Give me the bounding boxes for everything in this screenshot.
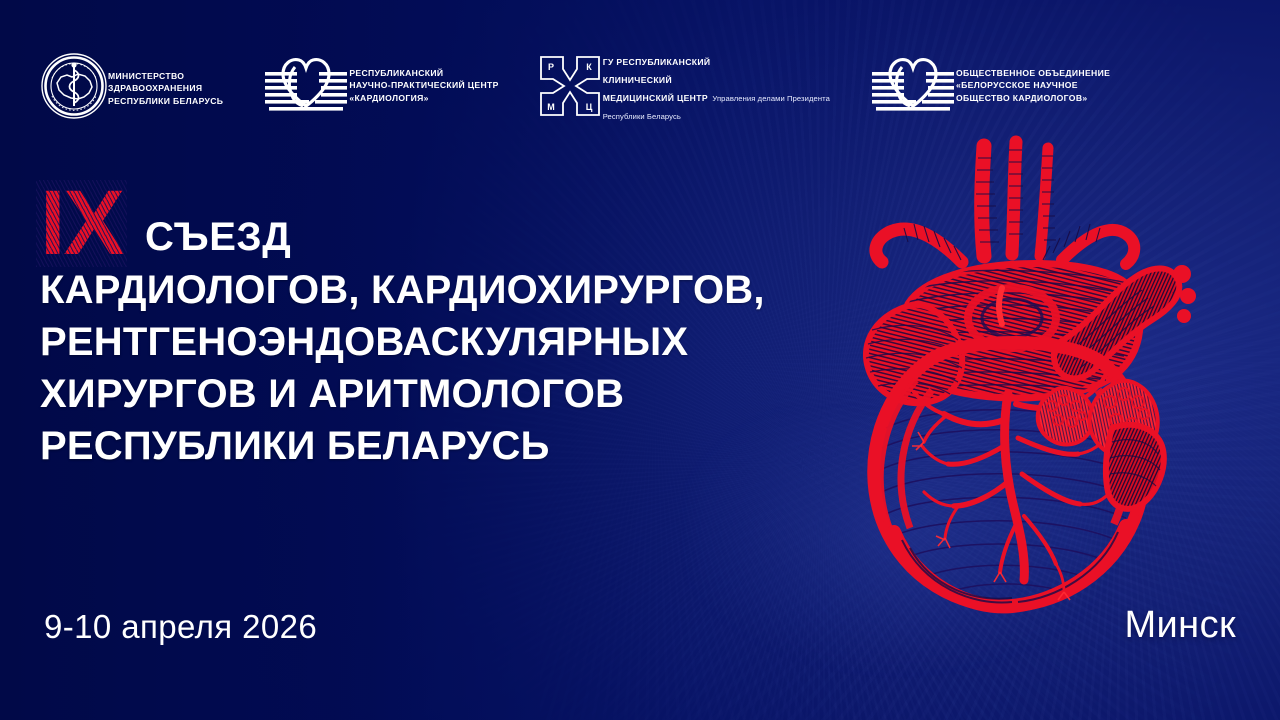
- ministry-of-health-belarus-seal-icon: [40, 52, 108, 125]
- four-quadrant-cross-rkmc-icon: Р К М Ц: [537, 53, 603, 124]
- title-kicker: СЪЕЗД: [145, 215, 291, 260]
- logo-ministry-of-health: МИНИСТЕРСТВО ЗДРАВООХРАНЕНИЯ РЕСПУБЛИКИ …: [40, 52, 223, 125]
- logo-rkmc: Р К М Ц ГУ РЕСПУБЛИКАНСКИЙ КЛИНИЧЕСКИЙ М…: [537, 52, 830, 124]
- logo-label-ministry: МИНИСТЕРСТВО ЗДРАВООХРАНЕНИЯ РЕСПУБЛИКИ …: [108, 70, 223, 108]
- title-first-line: IX СЪЕЗД: [40, 186, 840, 264]
- anatomical-heart-illustration: [812, 128, 1212, 608]
- logo-label-society: ОБЩЕСТВЕННОЕ ОБЪЕДИНЕНИЕ «БЕЛОРУССКОЕ НА…: [956, 67, 1110, 105]
- logo-belarusian-society-of-cardiologists: ОБЩЕСТВЕННОЕ ОБЪЕДИНЕНИЕ «БЕЛОРУССКОЕ НА…: [870, 52, 1110, 119]
- poster-title-block: IX СЪЕЗД КАРДИОЛОГОВ, КАРДИОХИРУРГОВ, РЕ…: [40, 186, 840, 472]
- title-body: КАРДИОЛОГОВ, КАРДИОХИРУРГОВ, РЕНТГЕНОЭНД…: [40, 264, 840, 472]
- conference-poster: МИНИСТЕРСТВО ЗДРАВООХРАНЕНИЯ РЕСПУБЛИКИ …: [0, 0, 1280, 720]
- event-date: 9-10 апреля 2026: [44, 608, 317, 646]
- logo-label-rkmc: ГУ РЕСПУБЛИКАНСКИЙ КЛИНИЧЕСКИЙ МЕДИЦИНСК…: [603, 57, 711, 103]
- logo-row: МИНИСТЕРСТВО ЗДРАВООХРАНЕНИЯ РЕСПУБЛИКИ …: [40, 52, 1110, 125]
- rkmc-letter-m: М: [547, 102, 555, 112]
- event-city: Минск: [1125, 604, 1237, 647]
- logo-rnpc-cardiology: РЕСПУБЛИКАНСКИЙ НАУЧНО-ПРАКТИЧЕСКИЙ ЦЕНТ…: [263, 52, 498, 119]
- striped-heart-book-icon: [870, 52, 956, 119]
- rkmc-letter-r: Р: [548, 62, 554, 72]
- striped-heart-book-icon: [263, 52, 349, 119]
- rkmc-letter-c: Ц: [585, 102, 592, 112]
- rkmc-letter-k: К: [586, 62, 592, 72]
- roman-numeral-ix: IX: [40, 186, 123, 261]
- logo-label-rnpc: РЕСПУБЛИКАНСКИЙ НАУЧНО-ПРАКТИЧЕСКИЙ ЦЕНТ…: [349, 67, 498, 105]
